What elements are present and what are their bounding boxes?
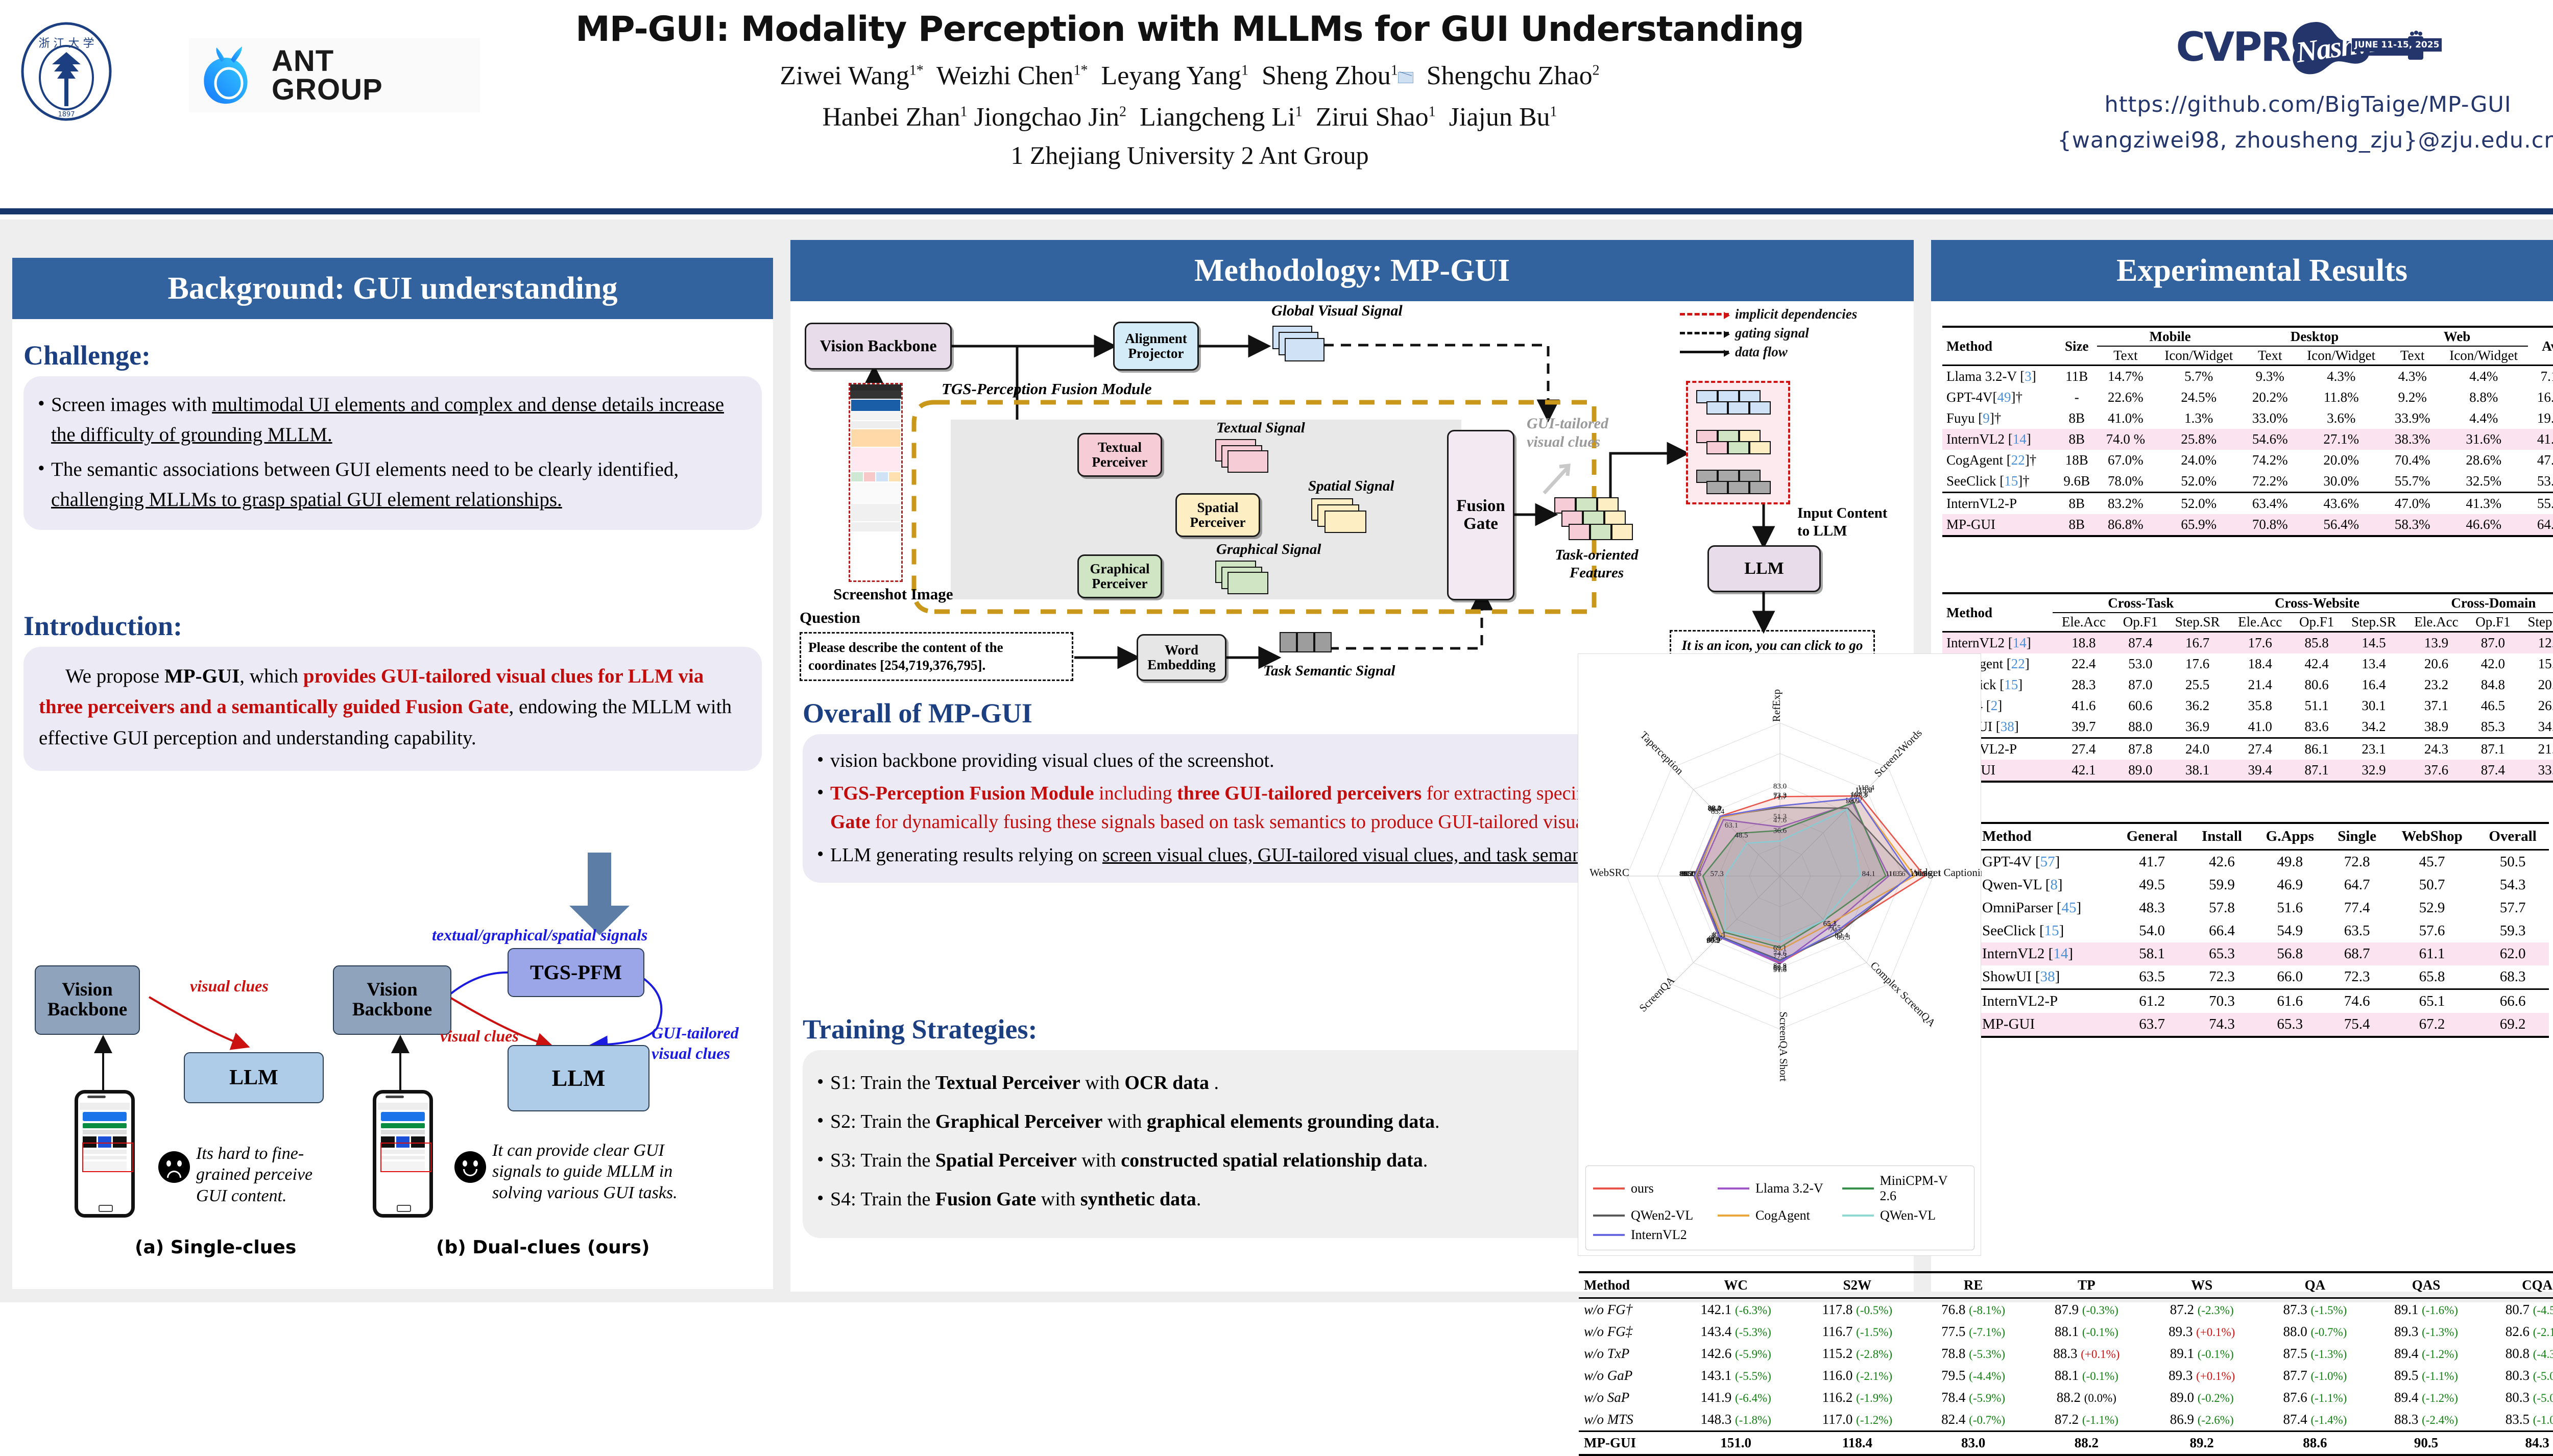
cvpr-guitar-icon: Nashville JUNE 11-15, 2025 bbox=[2286, 17, 2440, 78]
legend-swatch bbox=[1842, 1215, 1874, 1217]
gui-tailored-clues-label: GUI-tailoredvisual clues bbox=[1527, 415, 1634, 451]
introduction-callout: We propose MP-GUI, which provides GUI-ta… bbox=[23, 647, 762, 771]
challenge-heading: Challenge: bbox=[23, 339, 762, 371]
legend-item: Llama 3.2-V bbox=[1718, 1173, 1842, 1204]
table4-wrapper: MethodWCS2WRETPWSQAQASCQAw/o FG†142.1 (-… bbox=[1579, 1271, 2553, 1456]
ant-group-logo: ANT GROUP bbox=[189, 38, 480, 112]
introduction-text: We propose MP-GUI, which provides GUI-ta… bbox=[39, 661, 744, 754]
question-box: Please describe the content of the coord… bbox=[800, 632, 1073, 681]
global-visual-signal-label: Global Visual Signal bbox=[1271, 302, 1403, 320]
gui-clues-pointer-icon bbox=[1539, 456, 1585, 497]
a-caption-label: (a) Single-clues bbox=[135, 1237, 296, 1258]
section-title-methodology: Methodology: MP-GUI bbox=[790, 240, 1914, 301]
legend-swatch bbox=[1842, 1187, 1874, 1190]
table-row: MP-GUI63.774.365.375.467.269.2 bbox=[1977, 1013, 2549, 1037]
cvpr-block: CVPR Nashville JUNE 11-15, 2025 https://… bbox=[2022, 13, 2553, 153]
vision-backbone-box: Vision Backbone bbox=[805, 323, 952, 370]
legend-item: QWen2-VL bbox=[1593, 1208, 1718, 1223]
legend-label: ours bbox=[1631, 1181, 1654, 1196]
table-row: Fuyu [9]†8B41.0%1.3%33.0%3.6%33.9%4.4%19… bbox=[1942, 408, 2553, 429]
diagram-legend: implicit dependencies gating signal data… bbox=[1680, 306, 1899, 363]
table-row: CogAgent [22]†18B67.0%24.0%74.2%20.0%70.… bbox=[1942, 450, 2553, 471]
github-url[interactable]: https://github.com/BigTaige/MP-GUI bbox=[2022, 92, 2553, 117]
table-row: MP-GUI8B86.8%65.9%70.8%56.4%58.3%46.6%64… bbox=[1942, 514, 2553, 536]
textual-perceiver-box: Textual Perceiver bbox=[1077, 433, 1162, 477]
table-row: CogAgent [22]22.453.017.618.442.413.420.… bbox=[1942, 653, 2553, 674]
dashed-red-arrow-icon bbox=[1680, 313, 1729, 316]
svg-text:136.6: 136.6 bbox=[1910, 870, 1928, 878]
table-row: w/o FG†142.1 (-6.3%)117.8 (-0.5%)76.8 (-… bbox=[1579, 1298, 2553, 1321]
mp-gui-architecture-diagram: Vision Backbone Alignment Projector Glob… bbox=[798, 305, 1907, 683]
legend-data-flow: data flow bbox=[1680, 344, 1899, 360]
table-row: ShowUI [38]39.788.036.941.083.634.238.98… bbox=[1942, 716, 2553, 738]
table-row: GPT-4V [57]41.742.649.872.845.750.5 bbox=[1977, 850, 2549, 874]
table-row: InternVL2 [14]8B74.0 %25.8%54.6%27.1%38.… bbox=[1942, 429, 2553, 450]
table-row: InternVL2-P27.487.824.027.486.123.124.38… bbox=[1942, 738, 2553, 760]
affiliations: 1 Zhejiang University 2 Ant Group bbox=[449, 140, 1930, 170]
ablation-table: MethodWCS2WRETPWSQAQASCQAw/o FG†142.1 (-… bbox=[1579, 1271, 2553, 1456]
legend-item: CogAgent bbox=[1718, 1208, 1842, 1223]
b-signals-label: textual/graphical/spatial signals bbox=[432, 926, 647, 944]
table1-wrapper: MethodSizeMobileDesktopWebAvg.TextIcon/W… bbox=[1942, 326, 2553, 537]
zhejiang-university-logo: 浙 江 大 学 1897 bbox=[15, 20, 117, 123]
svg-text:89.2: 89.2 bbox=[1680, 870, 1693, 878]
column-background: Background: GUI understanding Challenge:… bbox=[12, 258, 773, 1289]
legend-swatch bbox=[1718, 1215, 1749, 1217]
question-label: Question bbox=[800, 609, 860, 627]
table-row: GPT-4V[49]†-22.6%24.5%20.2%11.8%9.2%8.8%… bbox=[1942, 387, 2553, 408]
spatial-perceiver-box: Spatial Perceiver bbox=[1175, 493, 1260, 537]
svg-text:ScreenQA: ScreenQA bbox=[1636, 974, 1677, 1014]
svg-text:浙 江 大 学: 浙 江 大 学 bbox=[39, 37, 94, 50]
screenshot-label: Screenshot Image bbox=[833, 585, 953, 603]
poster-header: 浙 江 大 学 1897 ANT GROUP MP-GUI: Modality … bbox=[0, 0, 2553, 220]
svg-text:ScreenQA Short: ScreenQA Short bbox=[1777, 1011, 1790, 1081]
single-vs-dual-clues-figure: VisionBackbone LLM visual clues bbox=[28, 937, 758, 1274]
legend-item: ours bbox=[1593, 1173, 1718, 1204]
input-semantic-stack bbox=[1696, 470, 1783, 502]
table-row: ShowUI [38]63.572.366.072.365.868.3 bbox=[1977, 965, 2549, 989]
b-caption-label: (b) Dual-clues (ours) bbox=[436, 1237, 649, 1258]
task-oriented-features-stack bbox=[1554, 497, 1641, 541]
table-row: GPT-4 [2]41.660.636.235.851.130.137.146.… bbox=[1942, 695, 2553, 716]
authors-line-1: Ziwei Wang1* Weizhi Chen1* Leyang Yang1 … bbox=[449, 61, 1930, 91]
email-icon bbox=[1398, 72, 1413, 83]
textual-signal-label: Textual Signal bbox=[1216, 420, 1305, 436]
svg-text:73.3: 73.3 bbox=[1773, 792, 1787, 800]
screenshot-thumbnail bbox=[849, 383, 903, 582]
graphical-perceiver-box: Graphical Perceiver bbox=[1077, 554, 1162, 598]
ant-mark-icon bbox=[194, 42, 260, 109]
radar-chart: RefExpScreen2WordsWidget CaptioningCompl… bbox=[1578, 653, 1981, 1256]
section-title-results: Experimental Results bbox=[1931, 240, 2553, 301]
textual-signal-stack bbox=[1215, 439, 1277, 474]
input-tailored-stack bbox=[1696, 430, 1783, 463]
table-row: SeeClick [15]28.387.025.521.480.616.423.… bbox=[1942, 674, 2553, 695]
b-gui-tailored-label: GUI-tailoredvisual clues bbox=[652, 1023, 754, 1063]
cvpr-wordmark: CVPR bbox=[2176, 25, 2290, 70]
b-tgs-pfm-box: TGS-PFM bbox=[508, 948, 644, 997]
table-row: w/o GaP143.1 (-5.5%)116.0 (-2.1%)79.5 (-… bbox=[1579, 1365, 2553, 1387]
table-row: InternVL2 [14]18.887.416.717.685.814.513… bbox=[1942, 632, 2553, 654]
b-vision-backbone-box: VisionBackbone bbox=[333, 965, 451, 1035]
svg-text:Screen2Words: Screen2Words bbox=[1872, 726, 1924, 779]
b-phone-mockup bbox=[373, 1090, 433, 1218]
challenge-bullet: Screen images with multimodal UI element… bbox=[34, 390, 744, 450]
down-arrow-icon bbox=[566, 853, 633, 937]
legend-gating-signal: gating signal bbox=[1680, 325, 1899, 341]
legend-swatch bbox=[1593, 1215, 1625, 1217]
input-content-box bbox=[1686, 381, 1790, 504]
b-llm-box: LLM bbox=[508, 1045, 649, 1111]
table-row: Qwen-VL [8]49.559.946.964.750.754.3 bbox=[1977, 873, 2549, 896]
input-content-label: Input Contentto LLM bbox=[1797, 504, 1899, 540]
word-embedding-box: Word Embedding bbox=[1137, 634, 1226, 681]
ant-group-wordmark: ANT GROUP bbox=[272, 47, 383, 103]
legend-item: InternVL2 bbox=[1593, 1227, 1718, 1243]
alignment-projector-box: Alignment Projector bbox=[1113, 322, 1199, 371]
table-row: SeeClick [15]†9.6B78.0%52.0%72.2%30.0%55… bbox=[1942, 471, 2553, 493]
b-visual-clues-label: visual clues bbox=[440, 1027, 519, 1046]
ant-line2: GROUP bbox=[272, 76, 383, 104]
challenge-bullet: The semantic associations between GUI el… bbox=[34, 454, 744, 515]
cvpr-date-label: JUNE 11-15, 2025 bbox=[2352, 38, 2442, 52]
table-row: w/o TxP142.6 (-5.9%)115.2 (-2.8%)78.8 (-… bbox=[1579, 1343, 2553, 1365]
column-results: Experimental Results MethodSizeMobileDes… bbox=[1931, 240, 2553, 1292]
solid-arrow-icon bbox=[1680, 351, 1729, 353]
table-row: Llama 3.2-V [3]11B14.7%5.7%9.3%4.3%4.3%4… bbox=[1942, 366, 2553, 387]
svg-text:Complex ScreenQA: Complex ScreenQA bbox=[1868, 959, 1939, 1030]
tgs-module-label: TGS-Perception Fusion Module bbox=[942, 380, 1152, 398]
task-oriented-features-label: Task-orientedFeatures bbox=[1548, 546, 1645, 582]
results-table-mind2web: MethodCross-TaskCross-WebsiteCross-Domai… bbox=[1942, 592, 2553, 783]
table-row: OmniParser [45]48.357.851.677.452.957.7 bbox=[1977, 896, 2549, 919]
cvpr-logo: CVPR Nashville JUNE 11-15, 2025 bbox=[2022, 13, 2553, 82]
svg-text:83.0: 83.0 bbox=[1773, 782, 1787, 790]
radar-legend: oursLlama 3.2-VMiniCPM-V 2.6QWen2-VLCogA… bbox=[1585, 1166, 1974, 1250]
svg-text:WebSRC: WebSRC bbox=[1589, 866, 1629, 879]
a-sad-face-icon bbox=[158, 1151, 190, 1183]
introduction-heading: Introduction: bbox=[23, 610, 762, 642]
svg-text:115.2: 115.2 bbox=[1855, 786, 1872, 794]
spatial-signal-stack bbox=[1311, 498, 1378, 534]
legend-swatch bbox=[1718, 1187, 1749, 1190]
b-happy-face-icon bbox=[454, 1151, 486, 1183]
table-row: SeeClick [15]54.066.454.963.557.659.3 bbox=[1977, 919, 2549, 942]
legend-label: QWen2-VL bbox=[1631, 1208, 1693, 1223]
legend-label: QWen-VL bbox=[1880, 1208, 1936, 1223]
table-row: InternVL2-P8B83.2%52.0%63.4%43.6%47.0%41… bbox=[1942, 493, 2553, 515]
legend-label: InternVL2 bbox=[1631, 1227, 1687, 1243]
task-semantic-signal-label: Task Semantic Signal bbox=[1263, 663, 1395, 680]
authors-line-2: Hanbei Zhan1 Jiongchao Jin2 Liangcheng L… bbox=[449, 102, 1930, 132]
legend-implicit-dependencies: implicit dependencies bbox=[1680, 306, 1899, 322]
results-table-grounding: MethodSizeMobileDesktopWebAvg.TextIcon/W… bbox=[1942, 326, 2553, 537]
table-row: InternVL2 [14]58.165.356.868.761.162.0 bbox=[1977, 942, 2549, 965]
legend-swatch bbox=[1593, 1234, 1625, 1236]
table-row: InternVL2-P61.270.361.674.665.166.6 bbox=[1977, 989, 2549, 1013]
results-table-aitw: MethodGeneralInstallG.AppsSingleWebShopO… bbox=[1977, 822, 2549, 1038]
contact-emails: {wangziwei98, zhousheng_zju}@zju.edu.cn bbox=[2022, 128, 2553, 153]
table3-wrapper: MethodGeneralInstallG.AppsSingleWebShopO… bbox=[1977, 822, 2549, 1038]
table-row: w/o MTS148.3 (-1.8%)117.0 (-1.2%)82.4 (-… bbox=[1579, 1409, 2553, 1431]
svg-text:RefExp: RefExp bbox=[1770, 689, 1783, 722]
legend-label: MiniCPM-V 2.6 bbox=[1880, 1173, 1967, 1204]
svg-text:89.9: 89.9 bbox=[1706, 937, 1720, 945]
legend-label: CogAgent bbox=[1755, 1208, 1810, 1223]
page-title: MP-GUI: Modality Perception with MLLMs f… bbox=[449, 9, 1930, 50]
radar-plot: RefExpScreen2WordsWidget CaptioningCompl… bbox=[1578, 654, 1982, 1170]
legend-item: QWen-VL bbox=[1842, 1208, 1967, 1223]
graphical-signal-stack bbox=[1215, 561, 1277, 595]
legend-label: Llama 3.2-V bbox=[1755, 1181, 1823, 1196]
b-caption-text: It can provide clear GUI signals to guid… bbox=[492, 1140, 681, 1203]
table-row: w/o FG‡143.4 (-5.3%)116.7 (-1.5%)77.5 (-… bbox=[1579, 1321, 2553, 1343]
graphical-signal-label: Graphical Signal bbox=[1216, 541, 1321, 558]
table-row: MP-GUI151.0118.483.088.289.288.690.584.3 bbox=[1579, 1431, 2553, 1455]
a-phone-mockup bbox=[75, 1090, 135, 1218]
table-row: w/o SaP141.9 (-6.4%)116.2 (-1.9%)78.4 (-… bbox=[1579, 1387, 2553, 1409]
input-visual-stack bbox=[1696, 390, 1783, 423]
table2-wrapper: MethodCross-TaskCross-WebsiteCross-Domai… bbox=[1942, 592, 2553, 783]
dashed-black-arrow-icon bbox=[1680, 332, 1729, 334]
poster-body: Background: GUI understanding Challenge:… bbox=[0, 220, 2553, 1302]
legend-item: MiniCPM-V 2.6 bbox=[1842, 1173, 1967, 1204]
svg-text:88.2: 88.2 bbox=[1708, 805, 1721, 813]
svg-text:82.4: 82.4 bbox=[1835, 932, 1848, 940]
svg-text:Taperception: Taperception bbox=[1638, 729, 1687, 778]
global-visual-signal-stack bbox=[1272, 326, 1329, 362]
a-caption-text: Its hard to fine-grained perceive GUI co… bbox=[196, 1143, 329, 1206]
fusion-gate-box: FusionGate bbox=[1447, 430, 1514, 600]
table-row: MP-GUI42.189.038.139.487.132.937.687.433… bbox=[1942, 760, 2553, 782]
header-divider bbox=[0, 208, 2553, 214]
challenge-callout: Screen images with multimodal UI element… bbox=[23, 376, 762, 530]
spatial-signal-label: Spatial Signal bbox=[1308, 478, 1394, 495]
svg-text:1897: 1897 bbox=[58, 111, 75, 118]
section-title-background: Background: GUI understanding bbox=[12, 258, 773, 319]
ant-line1: ANT bbox=[272, 47, 383, 75]
legend-swatch bbox=[1593, 1187, 1625, 1190]
title-block: MP-GUI: Modality Perception with MLLMs f… bbox=[449, 9, 1930, 170]
svg-text:89.2: 89.2 bbox=[1773, 963, 1787, 972]
llm-box: LLM bbox=[1707, 545, 1821, 592]
task-semantic-signal-stack bbox=[1280, 632, 1336, 661]
